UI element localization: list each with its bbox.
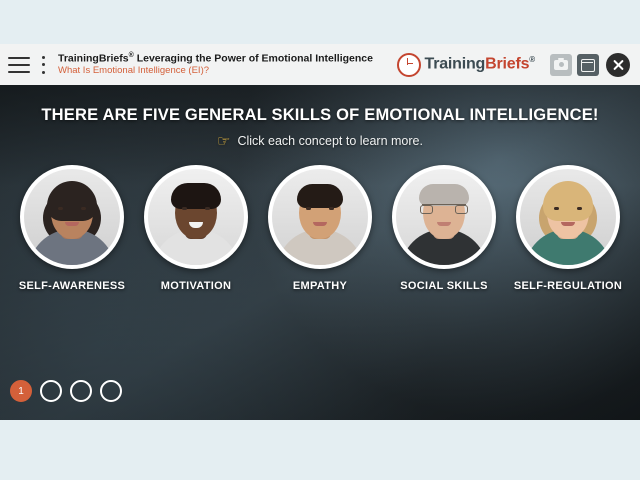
slide-pager: 1	[10, 380, 122, 402]
avatar[interactable]	[20, 165, 124, 269]
concept-item-self-awareness[interactable]: SELF-AWARENESS	[19, 165, 125, 292]
slide-headline: THERE ARE FIVE GENERAL SKILLS OF EMOTION…	[0, 106, 640, 125]
portrait-woman-ponytail	[272, 169, 368, 265]
concept-list: SELF-AWARENESS MOTIVATION	[0, 165, 640, 292]
brand-word-training: Training	[425, 56, 486, 73]
calendar-icon[interactable]	[577, 54, 599, 76]
lesson-subtitle: What Is Emotional Intelligence (EI)?	[58, 66, 397, 77]
camera-icon[interactable]	[550, 54, 572, 76]
concept-item-motivation[interactable]: MOTIVATION	[143, 165, 249, 292]
concept-item-social-skills[interactable]: SOCIAL SKILLS	[391, 165, 497, 292]
kebab-menu-icon[interactable]	[36, 56, 50, 74]
brand-registered-mark: ®	[529, 55, 535, 64]
concept-item-self-regulation[interactable]: SELF-REGULATION	[515, 165, 621, 292]
avatar[interactable]	[516, 165, 620, 269]
brand-wordmark: TrainingBriefs®	[425, 55, 536, 73]
concept-label: SELF-REGULATION	[514, 280, 622, 292]
course-titles: TrainingBriefs® Leveraging the Power of …	[58, 52, 397, 76]
avatar[interactable]	[144, 165, 248, 269]
eyeglasses-icon	[422, 204, 466, 214]
portrait-man-smiling	[148, 169, 244, 265]
concept-label: MOTIVATION	[161, 280, 231, 292]
concept-label: SELF-AWARENESS	[19, 280, 125, 292]
slide-canvas: THERE ARE FIVE GENERAL SKILLS OF EMOTION…	[0, 85, 640, 420]
course-title-rest: Leveraging the Power of Emotional Intell…	[134, 53, 373, 65]
camera-glyph	[554, 60, 568, 70]
portrait-woman-blonde	[520, 169, 616, 265]
hamburger-menu-icon[interactable]	[8, 57, 30, 73]
pointing-hand-icon: ☞	[217, 134, 230, 149]
pager-dot-4[interactable]	[100, 380, 122, 402]
concept-item-empathy[interactable]: EMPATHY	[267, 165, 373, 292]
pager-dot-2[interactable]	[40, 380, 62, 402]
concept-label: SOCIAL SKILLS	[400, 280, 487, 292]
avatar[interactable]	[392, 165, 496, 269]
pager-dot-3[interactable]	[70, 380, 92, 402]
slide-instruction: ☞ Click each concept to learn more.	[0, 133, 640, 148]
clock-icon	[397, 53, 421, 77]
player-stage: TrainingBriefs® Leveraging the Power of …	[0, 0, 640, 480]
portrait-woman-dark-hair	[24, 169, 120, 265]
course-title: TrainingBriefs® Leveraging the Power of …	[58, 52, 397, 65]
close-icon[interactable]	[606, 53, 630, 77]
trainingbriefs-logo: TrainingBriefs®	[397, 53, 536, 77]
player-toolbar: TrainingBriefs® Leveraging the Power of …	[0, 44, 640, 85]
course-title-brand: TrainingBriefs	[58, 53, 129, 65]
brand-word-briefs: Briefs	[485, 56, 529, 73]
portrait-man-glasses	[396, 169, 492, 265]
pager-dot-1[interactable]: 1	[10, 380, 32, 402]
slide-instruction-text: Click each concept to learn more.	[237, 134, 423, 148]
avatar[interactable]	[268, 165, 372, 269]
calendar-glyph	[581, 59, 595, 72]
concept-label: EMPATHY	[293, 280, 347, 292]
